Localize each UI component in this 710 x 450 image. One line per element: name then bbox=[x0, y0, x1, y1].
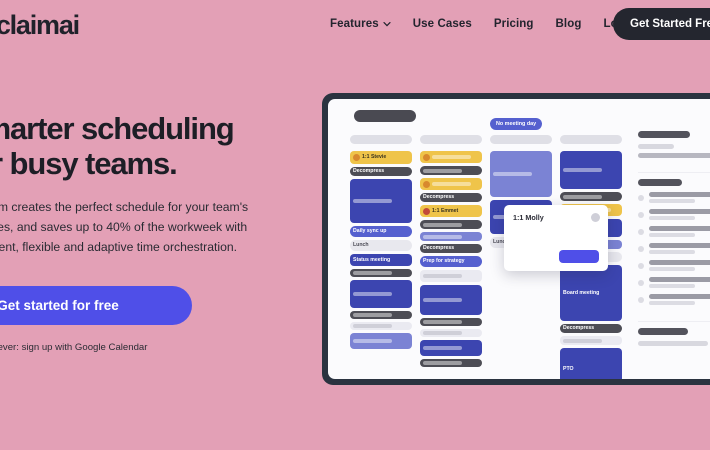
app-side-panel bbox=[638, 125, 710, 379]
attendee-avatar-icon bbox=[423, 181, 430, 188]
app-toolbar-placeholder bbox=[354, 110, 416, 122]
calendar-event-label: Decompress bbox=[563, 325, 594, 331]
calendar-event-placeholder[interactable] bbox=[420, 270, 482, 282]
list-item[interactable] bbox=[638, 226, 710, 237]
side-panel-line bbox=[638, 341, 708, 346]
checkbox-icon[interactable] bbox=[638, 229, 644, 235]
calendar-event-placeholder[interactable] bbox=[560, 336, 622, 345]
calendar-event-placeholder[interactable] bbox=[350, 269, 412, 277]
calendar-event-placeholder[interactable] bbox=[490, 151, 552, 197]
calendar-event[interactable]: Daily sync up bbox=[350, 226, 412, 237]
calendar-event-placeholder[interactable] bbox=[350, 280, 412, 308]
calendar-event-placeholder[interactable] bbox=[420, 220, 482, 229]
calendar-column-header bbox=[490, 135, 552, 144]
calendar-event[interactable]: Lunch bbox=[350, 240, 412, 251]
calendar-event-label: PTO bbox=[563, 366, 574, 372]
calendar-event-placeholder[interactable] bbox=[350, 333, 412, 349]
calendar-event-label: Decompress bbox=[423, 194, 454, 200]
event-text-placeholder bbox=[493, 172, 532, 176]
calendar-event-placeholder[interactable] bbox=[350, 179, 412, 223]
nav-item-features[interactable]: Features bbox=[330, 18, 391, 30]
calendar-event-label: Daily sync up bbox=[353, 228, 386, 234]
event-text-placeholder bbox=[423, 331, 462, 335]
nav-item-pricing[interactable]: Pricing bbox=[494, 18, 534, 30]
calendar-event-label: Board meeting bbox=[563, 290, 599, 296]
list-item[interactable] bbox=[638, 294, 710, 305]
checkbox-icon[interactable] bbox=[638, 195, 644, 201]
event-text-placeholder bbox=[423, 298, 462, 302]
event-text-placeholder bbox=[563, 168, 602, 172]
calendar-event[interactable]: Decompress bbox=[420, 244, 482, 253]
get-started-free-button[interactable]: Get Started Free bbox=[613, 8, 710, 40]
avatar-icon bbox=[591, 213, 600, 222]
calendar-event[interactable]: Decompress bbox=[560, 324, 622, 333]
event-text-placeholder bbox=[423, 169, 462, 173]
event-text-placeholder bbox=[353, 292, 392, 296]
checkbox-icon[interactable] bbox=[638, 212, 644, 218]
event-text-placeholder bbox=[423, 274, 462, 278]
event-text-placeholder bbox=[563, 339, 602, 343]
popup-title: 1:1 Molly bbox=[513, 213, 599, 222]
checkbox-icon[interactable] bbox=[638, 263, 644, 269]
event-detail-popup[interactable]: 1:1 Molly bbox=[504, 205, 608, 271]
nav-item-use-cases[interactable]: Use Cases bbox=[413, 18, 472, 30]
no-meeting-day-badge: No meeting day bbox=[490, 118, 542, 130]
calendar-column-header bbox=[420, 135, 482, 144]
calendar-event-placeholder[interactable] bbox=[420, 285, 482, 315]
calendar-event-label: Decompress bbox=[423, 245, 454, 251]
side-panel-line bbox=[638, 144, 674, 149]
calendar-event[interactable]: 1:1 Stevie bbox=[350, 151, 412, 164]
calendar-column-header bbox=[350, 135, 412, 144]
attendee-avatar-icon bbox=[423, 208, 430, 215]
calendar-event-label: 1:1 Stevie bbox=[362, 154, 386, 160]
calendar-column: 1:1 StevieDecompressDaily sync upLunchSt… bbox=[350, 135, 412, 379]
side-panel-line bbox=[638, 153, 710, 158]
nav-item-features-label: Features bbox=[330, 18, 379, 30]
list-item[interactable] bbox=[638, 209, 710, 220]
app-screenshot-frame: 1:1 StevieDecompressDaily sync upLunchSt… bbox=[322, 93, 710, 385]
event-text-placeholder bbox=[353, 271, 392, 275]
app-screen: 1:1 StevieDecompressDaily sync upLunchSt… bbox=[328, 99, 710, 379]
side-panel-title-placeholder bbox=[638, 328, 688, 335]
attendee-avatar-icon bbox=[353, 154, 360, 161]
event-text-placeholder bbox=[353, 199, 392, 203]
get-started-for-free-button[interactable]: Get started for free bbox=[0, 286, 192, 325]
calendar-event-placeholder[interactable] bbox=[560, 192, 622, 201]
event-text-placeholder bbox=[423, 223, 462, 227]
checkbox-icon[interactable] bbox=[638, 280, 644, 286]
calendar-event-label: Lunch bbox=[353, 242, 369, 248]
calendar-event-placeholder[interactable] bbox=[420, 318, 482, 326]
popup-primary-button[interactable] bbox=[559, 250, 599, 263]
calendar-event[interactable]: 1:1 Emmet bbox=[420, 205, 482, 217]
calendar-event[interactable]: Status meeting bbox=[350, 254, 412, 266]
checkbox-icon[interactable] bbox=[638, 297, 644, 303]
event-text-placeholder bbox=[563, 195, 602, 199]
calendar-event-label: Prep for strategy bbox=[423, 258, 465, 264]
calendar-event-placeholder[interactable] bbox=[420, 151, 482, 163]
calendar-event[interactable]: PTO bbox=[560, 348, 622, 379]
calendar-event-placeholder[interactable] bbox=[560, 151, 622, 189]
side-panel-title-placeholder bbox=[638, 179, 682, 186]
top-navigation: eclaimai Features Use Cases Pricing Blog… bbox=[0, 0, 710, 52]
list-item[interactable] bbox=[638, 260, 710, 271]
calendar-column-header bbox=[560, 135, 622, 144]
calendar-event-label: Decompress bbox=[353, 168, 384, 174]
hero-headline-line2: for busy teams. bbox=[0, 147, 294, 182]
checkbox-icon[interactable] bbox=[638, 246, 644, 252]
calendar-column: Decompress1:1 EmmetDecompressPrep for st… bbox=[420, 135, 482, 379]
list-item[interactable] bbox=[638, 243, 710, 254]
site-logo[interactable]: eclaimai bbox=[0, 10, 79, 41]
calendar-event[interactable]: Decompress bbox=[350, 167, 412, 176]
event-text-placeholder bbox=[432, 182, 471, 186]
side-panel-block bbox=[638, 125, 710, 173]
event-text-placeholder bbox=[353, 339, 392, 343]
calendar-event-placeholder[interactable] bbox=[420, 178, 482, 190]
calendar-event-placeholder[interactable] bbox=[420, 329, 482, 337]
list-item[interactable] bbox=[638, 192, 710, 203]
calendar-event-label: Status meeting bbox=[353, 257, 390, 263]
event-text-placeholder bbox=[432, 155, 471, 159]
attendee-avatar-icon bbox=[423, 154, 430, 161]
event-text-placeholder bbox=[423, 320, 462, 324]
event-text-placeholder bbox=[423, 361, 462, 365]
list-item[interactable] bbox=[638, 277, 710, 288]
nav-links: Features Use Cases Pricing Blog Log In bbox=[330, 18, 639, 30]
calendar-event[interactable]: Decompress bbox=[420, 193, 482, 202]
side-panel-block bbox=[638, 173, 710, 322]
calendar-event-placeholder[interactable] bbox=[420, 340, 482, 356]
calendar-event-placeholder[interactable] bbox=[420, 232, 482, 241]
calendar-event-placeholder[interactable] bbox=[350, 311, 412, 319]
side-panel-title-placeholder bbox=[638, 131, 690, 138]
cta-note: Free forever: sign up with Google Calend… bbox=[0, 342, 294, 353]
event-text-placeholder bbox=[353, 313, 392, 317]
hero-section: Smarter scheduling for busy teams. Recla… bbox=[0, 112, 294, 353]
calendar-event-placeholder[interactable] bbox=[420, 359, 482, 367]
event-text-placeholder bbox=[353, 324, 392, 328]
calendar-event-label: 1:1 Emmet bbox=[432, 208, 458, 214]
chevron-down-icon bbox=[383, 20, 391, 28]
event-text-placeholder bbox=[423, 235, 462, 239]
nav-item-blog[interactable]: Blog bbox=[556, 18, 582, 30]
event-text-placeholder bbox=[423, 346, 462, 350]
calendar-event-placeholder[interactable] bbox=[350, 322, 412, 330]
calendar-event-placeholder[interactable] bbox=[420, 166, 482, 175]
calendar-event[interactable]: Board meeting bbox=[560, 265, 622, 321]
hero-subtext: Reclaim creates the perfect schedule for… bbox=[0, 198, 294, 257]
hero-headline-line1: Smarter scheduling bbox=[0, 112, 294, 147]
calendar-event[interactable]: Prep for strategy bbox=[420, 256, 482, 267]
side-panel-block bbox=[638, 322, 710, 360]
